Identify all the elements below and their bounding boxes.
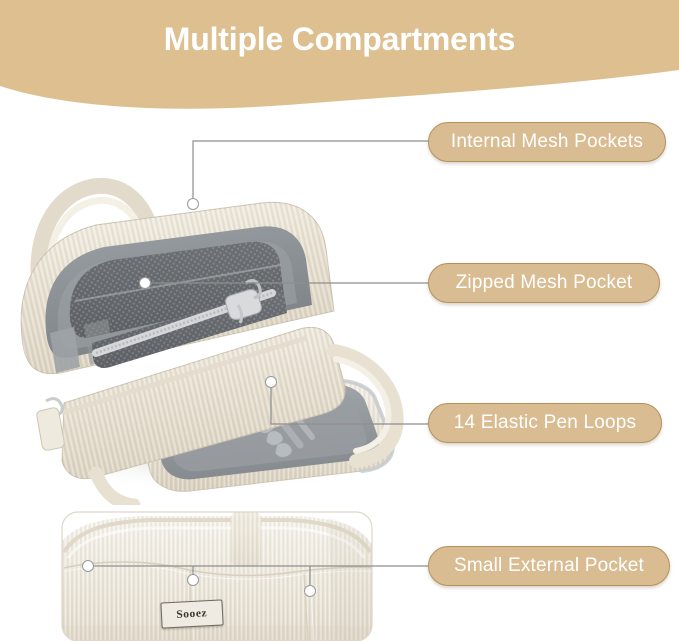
brand-label-box: Sooez	[160, 599, 223, 628]
callout-zipped-mesh-pocket[interactable]: Zipped Mesh Pocket	[428, 263, 660, 303]
callout-elastic-pen-loops[interactable]: 14 Elastic Pen Loops	[428, 403, 662, 443]
callout-small-external-pocket[interactable]: Small External Pocket	[428, 546, 670, 586]
callout-internal-mesh-pockets[interactable]: Internal Mesh Pockets	[428, 122, 666, 162]
open-pencil-case-photo	[0, 105, 420, 505]
page-title: Multiple Compartments	[0, 20, 679, 58]
brand-label-text: Sooez	[176, 607, 207, 621]
case-zipper-pull	[37, 399, 64, 451]
infographic-page: Multiple Compartments	[0, 0, 679, 641]
brand-label: Sooez	[160, 599, 223, 628]
